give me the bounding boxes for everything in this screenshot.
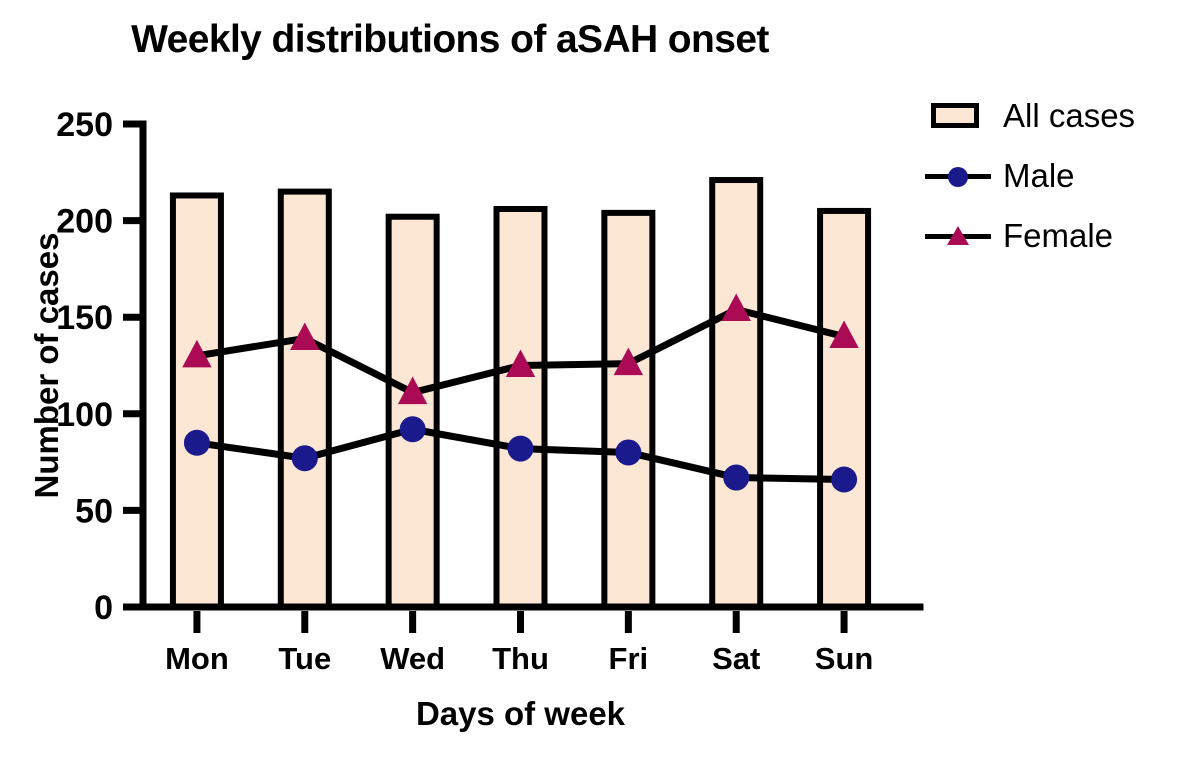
bar-thu — [497, 209, 545, 607]
x-tick-label-sun: Sun — [815, 641, 874, 676]
marker-male-sun — [831, 466, 857, 492]
chart-figure: Weekly distributions of aSAH onset 05010… — [0, 0, 1200, 763]
line-circle-swatch-icon — [925, 156, 991, 196]
legend-label-male: Male — [1003, 157, 1075, 195]
y-tick-label: 0 — [94, 589, 113, 627]
bar-sun — [820, 211, 868, 607]
marker-male-sat — [723, 465, 749, 491]
bar-sat — [712, 180, 760, 607]
legend-label-female: Female — [1003, 217, 1113, 255]
x-tick-label-wed: Wed — [380, 641, 445, 676]
marker-male-wed — [400, 416, 426, 442]
marker-male-tue — [292, 445, 318, 471]
legend-item-female: Female — [925, 208, 1195, 264]
legend-label-all-cases: All cases — [1003, 97, 1135, 135]
x-tick-label-fri: Fri — [609, 641, 649, 676]
x-axis-label: Days of week — [416, 695, 626, 732]
bar-mon — [173, 195, 221, 607]
bar-fri — [604, 213, 652, 607]
legend-item-all-cases: All cases — [925, 88, 1195, 144]
marker-male-mon — [184, 430, 210, 456]
x-tick-label-sat: Sat — [712, 641, 760, 676]
marker-male-fri — [615, 439, 641, 465]
legend-item-male: Male — [925, 148, 1195, 204]
x-tick-label-mon: Mon — [165, 641, 229, 676]
y-tick-label: 50 — [75, 492, 113, 530]
bar-wed — [389, 217, 437, 607]
bar-swatch-icon — [925, 96, 991, 136]
marker-male-thu — [508, 436, 534, 462]
x-tick-label-thu: Thu — [492, 641, 549, 676]
line-triangle-swatch-icon — [925, 216, 991, 256]
chart-legend: All cases Male Female — [925, 88, 1195, 268]
bar-tue — [281, 192, 329, 607]
y-axis-label: Number of cases — [28, 233, 65, 499]
y-tick-label: 250 — [56, 106, 113, 144]
x-tick-label-tue: Tue — [278, 641, 331, 676]
